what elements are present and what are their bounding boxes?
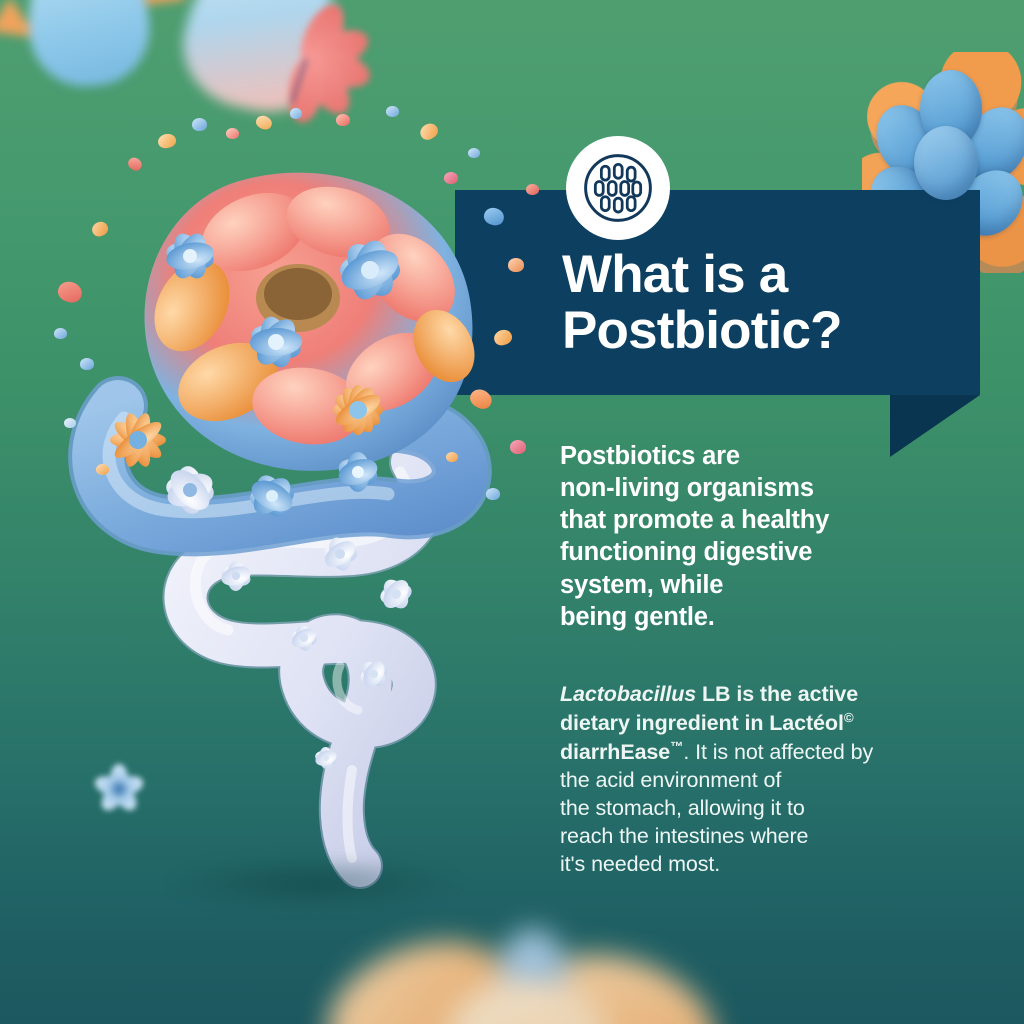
lead-line-2: non-living organisms (560, 472, 980, 504)
copyright-mark: © (844, 710, 854, 725)
lead-line-4: functioning digestive (560, 536, 980, 568)
fine-print-line-2: dietary ingredient in Lactéol© (560, 709, 975, 738)
poster-canvas: What is a Postbiotic? Postbiotics are no… (0, 0, 1024, 1024)
top-left-blurred-blue-bloom-icon (0, 0, 220, 112)
page-title-line-1: What is a (562, 247, 982, 303)
fine-print-line-6: reach the intestines where (560, 823, 975, 851)
species-name: Lactobacillus (560, 682, 696, 706)
fine-print-line-7: it's needed most. (560, 851, 975, 879)
lead-line-5: system, while (560, 569, 980, 601)
page-title: What is a Postbiotic? (562, 247, 982, 359)
fine-print-line-3: diarrhEase™. It is not affected by (560, 738, 975, 767)
trademark-mark: ™ (670, 739, 683, 754)
fine-print-paragraph: Lactobacillus LB is the active dietary i… (560, 681, 975, 879)
brand-name: diarrhEase (560, 740, 670, 764)
fine-print-tail-3: . It is not affected by (683, 740, 873, 764)
lead-line-3: that promote a healthy (560, 504, 980, 536)
bacteria-culture-badge (566, 136, 670, 240)
fine-print-line-1: Lactobacillus LB is the active (560, 681, 975, 709)
illustration-shadow (170, 856, 460, 910)
lead-paragraph: Postbiotics are non-living organisms tha… (560, 440, 980, 633)
scattered-petals-field (40, 100, 560, 580)
bacteria-culture-icon (581, 151, 655, 225)
fine-print-line-5: the stomach, allowing it to (560, 795, 975, 823)
fine-print-bold-2: dietary ingredient in Lactéol (560, 711, 844, 735)
fine-print-bold-1: LB is the active (696, 682, 858, 706)
page-title-line-2: Postbiotic? (562, 303, 982, 359)
fine-print-line-4: the acid environment of (560, 767, 975, 795)
lead-line-6: being gentle. (560, 601, 980, 633)
lead-line-1: Postbiotics are (560, 440, 980, 472)
bottom-blurred-orange-flower-icon (318, 908, 738, 1024)
